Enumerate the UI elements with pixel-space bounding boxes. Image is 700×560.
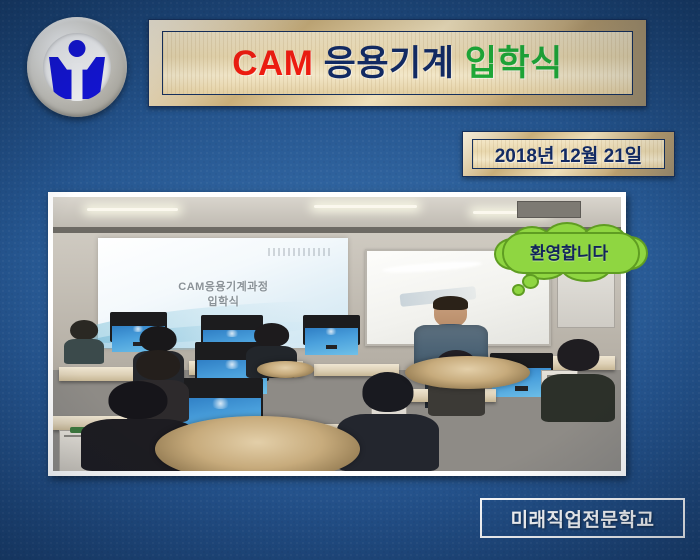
bubble-tail-small: [512, 284, 525, 296]
event-date-text: 2018년 12월 21일: [495, 141, 643, 168]
photo-projector-box: [517, 201, 581, 218]
school-name-text: 미래직업전문학교: [511, 505, 655, 532]
photo-slide-logo: [268, 248, 333, 256]
photo-student-head: [254, 323, 290, 347]
logo-figure-stripe: [72, 63, 83, 101]
photo-fur-hood-1: [155, 416, 359, 471]
title-banner: CAM 응용기계 입학식: [148, 19, 647, 107]
title-part-event: 입학식: [465, 46, 563, 81]
title-banner-inner: CAM 응용기계 입학식: [162, 31, 633, 95]
presentation-slide: CAM 응용기계 입학식 2018년 12월 21일: [0, 0, 700, 560]
date-badge: 2018년 12월 21일: [462, 131, 675, 177]
photo-ceiling-lamp-2: [314, 205, 416, 208]
photo-slide-title-line2: 입학식: [98, 295, 348, 310]
institution-emblem-logo: [27, 17, 127, 117]
school-name-box: 미래직업전문학교: [480, 498, 685, 538]
photo-student-head: [70, 320, 98, 340]
photo-student-body: [541, 374, 615, 422]
photo-student-head: [109, 381, 168, 419]
photo-student-head: [363, 372, 414, 411]
photo-fur-hood-3: [257, 361, 314, 377]
title-part-course: 응용기계: [324, 46, 455, 81]
title-space-2: [454, 46, 464, 81]
photo-fur-hood-2: [405, 356, 530, 389]
date-badge-inner: 2018년 12월 21일: [472, 139, 665, 169]
photo-student-head: [558, 339, 599, 370]
logo-inner-circle: [43, 33, 111, 101]
title-part-cam: CAM: [232, 46, 313, 81]
bubble-text: 환영합니다: [494, 222, 644, 280]
photo-whiteboard-glare: [382, 260, 482, 275]
photo-student-body: [64, 339, 104, 364]
photo-ceiling-lamp-1: [87, 208, 178, 211]
photo-student-head: [140, 326, 177, 353]
bubble-tail-large: [522, 274, 539, 289]
photo-monitor-5: [303, 315, 360, 345]
photo-slide-title-line1: CAM응용기계과정: [98, 280, 348, 295]
photo-student-head: [136, 350, 180, 380]
photo-student-1: [64, 320, 104, 364]
welcome-speech-bubble: 환영합니다: [494, 222, 644, 280]
logo-figure-head: [69, 40, 86, 57]
title-space-1: [313, 46, 323, 81]
photo-student-8: [541, 339, 615, 421]
photo-instructor-hair: [433, 296, 468, 310]
